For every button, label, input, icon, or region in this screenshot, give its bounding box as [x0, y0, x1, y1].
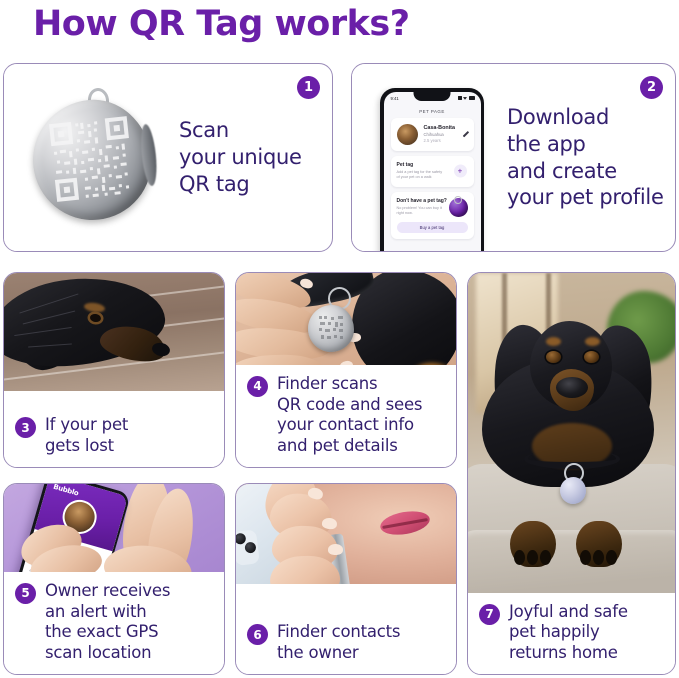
step-1-number-badge: 1: [297, 76, 320, 99]
wifi-icon: [463, 96, 467, 99]
step-5-text: Owner receives an alert with the exact G…: [45, 581, 170, 664]
step-5-image: Bubblo Casa-Bonita ! Chihuahua • 2.5 yea…: [4, 484, 224, 584]
step-3-number-badge: 3: [15, 417, 36, 438]
infographic-page: How QR Tag works?: [0, 0, 679, 678]
step-card-5: Bubblo Casa-Bonita ! Chihuahua • 2.5 yea…: [3, 483, 225, 675]
pet-breed: Chihuahua: [424, 132, 455, 137]
step-6-number-badge: 6: [247, 624, 268, 645]
phone-mockup: 9:41 PET PAGE: [380, 88, 484, 252]
pet-tag-card[interactable]: Pet tag Add a pet tag for the safety of …: [391, 156, 474, 187]
step-4-caption: 4 Finder scans QR code and sees your con…: [236, 365, 456, 467]
step-1-text: Scan your unique QR tag: [179, 117, 332, 198]
step-4-number-badge: 4: [247, 376, 268, 397]
step-5-caption: 5 Owner receives an alert with the exact…: [4, 572, 224, 674]
app-screen-title: PET PAGE: [384, 109, 481, 114]
step-3-caption: 3 If your pet gets lost: [4, 406, 224, 467]
step-6-text: Finder contacts the owner: [277, 622, 400, 664]
step-4-text: Finder scans QR code and sees your conta…: [277, 374, 422, 457]
step-6-caption: 6 Finder contacts the owner: [236, 613, 456, 674]
step-6-image: [236, 484, 456, 584]
battery-icon: [469, 96, 475, 99]
page-title: How QR Tag works?: [33, 4, 410, 44]
step-card-2: 9:41 PET PAGE: [351, 63, 676, 252]
no-tag-subtitle: No problem! You can buy it right now.: [397, 206, 447, 217]
step-2-image: 9:41 PET PAGE: [352, 64, 507, 251]
step-card-3: 3 If your pet gets lost: [3, 272, 225, 468]
status-time: 9:41: [391, 96, 399, 101]
step-2-text: Download the app and create your pet pro…: [507, 104, 675, 212]
pet-tag-on-collar: [560, 477, 586, 504]
signal-icon: [458, 96, 462, 99]
pet-age: 2.5 years: [424, 138, 455, 143]
add-tag-button[interactable]: +: [454, 165, 467, 178]
pet-tag-subtitle: Add a pet tag for the safety of your pet…: [397, 170, 447, 181]
tag-thumbnail-icon: [449, 198, 468, 217]
qr-code-pattern: [49, 116, 135, 202]
step-2-number-badge: 2: [640, 76, 663, 99]
step-card-1: Scan your unique QR tag 1: [3, 63, 333, 252]
qr-tag-body: [27, 94, 157, 226]
phone-notch: [414, 92, 451, 101]
step-5-number-badge: 5: [15, 583, 36, 604]
step-7-text: Joyful and safe pet happily returns home: [509, 602, 628, 664]
pet-avatar: [397, 124, 418, 145]
step-card-6: 6 Finder contacts the owner: [235, 483, 457, 675]
step-1-image: [4, 64, 179, 251]
step-7-image: [468, 273, 675, 594]
step-7-number-badge: 7: [479, 604, 500, 625]
step-3-text: If your pet gets lost: [45, 415, 128, 457]
app-logo: Bubblo: [53, 484, 80, 497]
step-card-4: 4 Finder scans QR code and sees your con…: [235, 272, 457, 468]
pet-name: Casa-Bonita: [424, 125, 455, 131]
qr-tag-closeup: [308, 305, 354, 352]
step-card-7: 7 Joyful and safe pet happily returns ho…: [467, 272, 676, 675]
pet-profile-card[interactable]: Casa-Bonita Chihuahua 2.5 years: [391, 118, 474, 151]
step-7-caption: 7 Joyful and safe pet happily returns ho…: [468, 593, 675, 674]
step-3-image: [4, 273, 224, 391]
buy-tag-card[interactable]: Don't have a pet tag? No problem! You ca…: [391, 192, 474, 239]
buy-pet-tag-button[interactable]: Buy a pet tag: [397, 222, 468, 233]
